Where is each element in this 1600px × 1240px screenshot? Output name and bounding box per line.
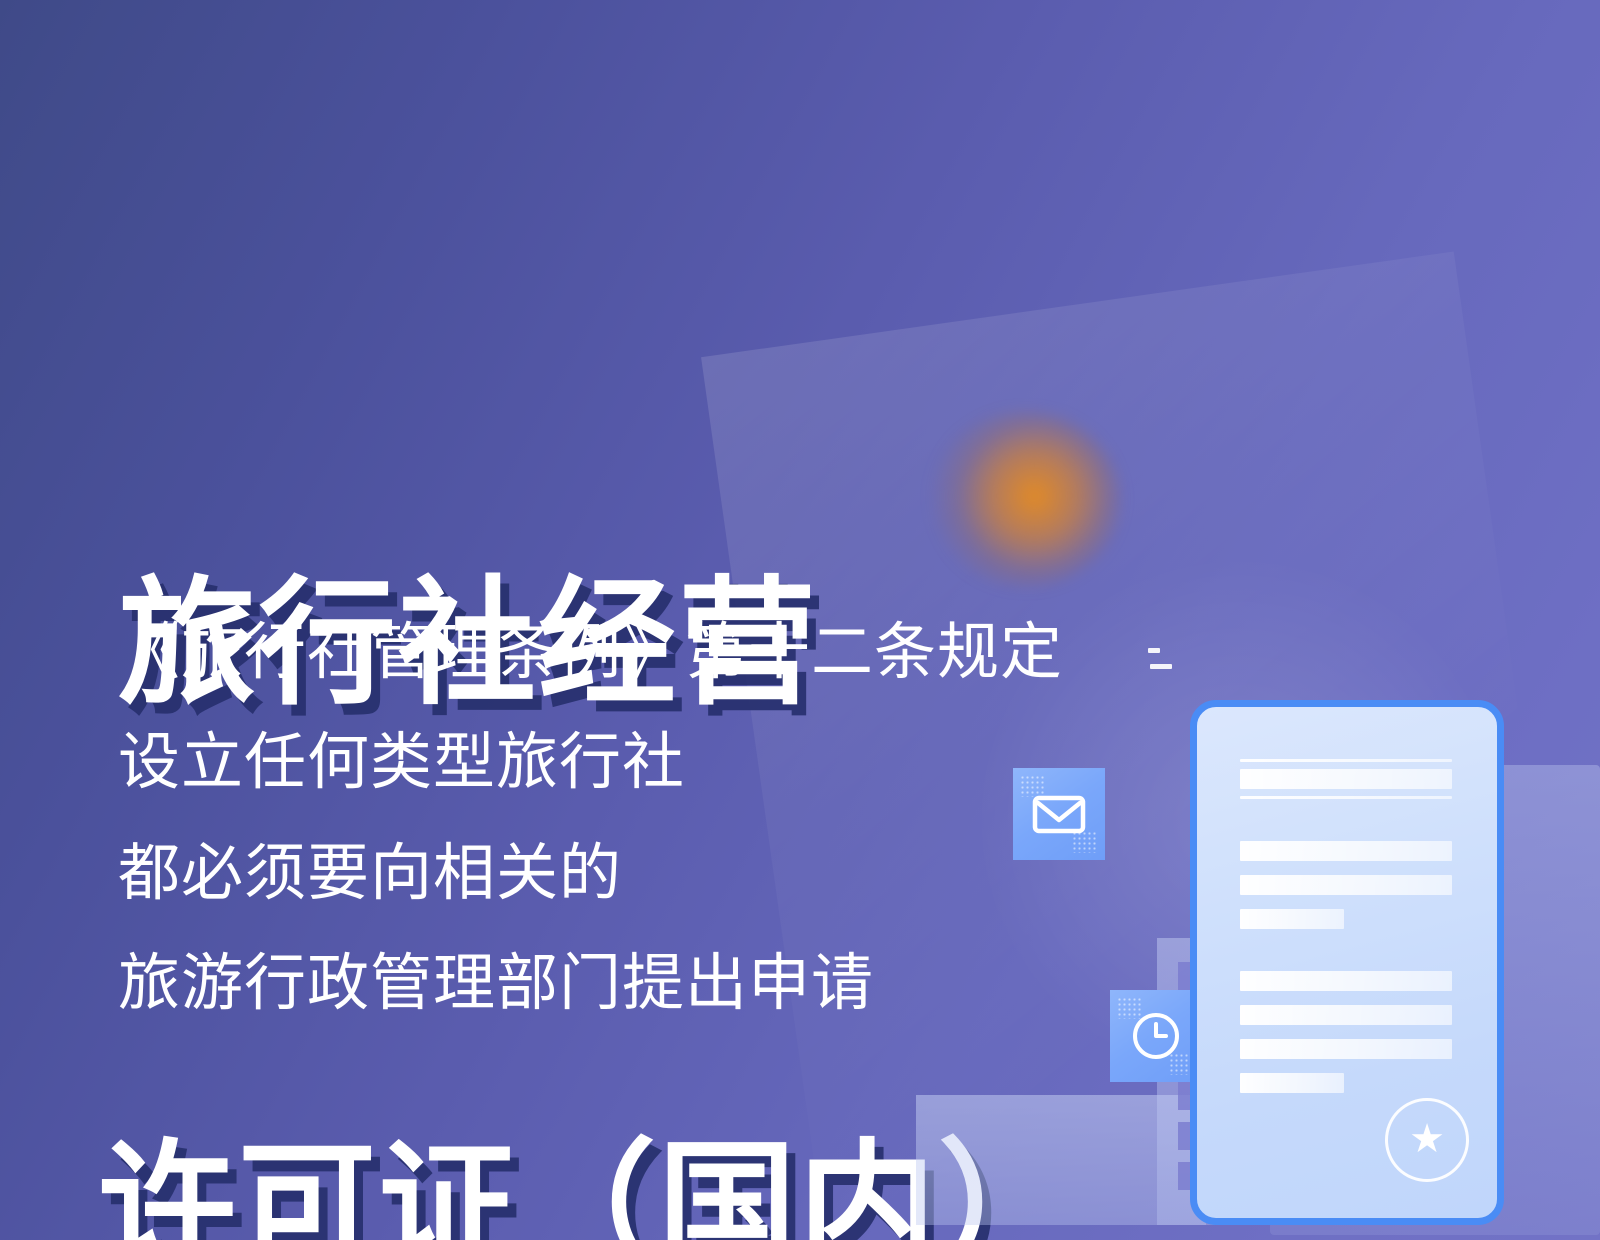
doc-line-gap bbox=[1240, 929, 1452, 971]
doc-line bbox=[1240, 841, 1452, 861]
envelope-icon bbox=[1013, 768, 1105, 860]
doc-line-gap bbox=[1240, 1025, 1452, 1039]
doc-line-gap bbox=[1240, 762, 1452, 769]
clock-icon bbox=[1110, 990, 1202, 1082]
document-text-lines bbox=[1240, 759, 1452, 1093]
doc-line bbox=[1240, 875, 1452, 895]
star-icon: ★ bbox=[1409, 1119, 1445, 1159]
illustration-group: ★ bbox=[880, 640, 1600, 1240]
doc-line bbox=[1240, 1039, 1452, 1059]
doc-line bbox=[1240, 769, 1452, 789]
doc-line-gap bbox=[1240, 895, 1452, 909]
poster-canvas: 旅行社经营 许可证（国内） 《旅行社管理条例》第十二条规定 设立任何类型旅行社 … bbox=[0, 0, 1600, 1240]
doc-line-gap bbox=[1240, 861, 1452, 875]
clock-tile bbox=[1110, 990, 1202, 1082]
doc-line-gap bbox=[1240, 1059, 1452, 1073]
document-card: ★ bbox=[1190, 700, 1504, 1225]
doc-line bbox=[1240, 1005, 1452, 1025]
doc-line bbox=[1240, 971, 1452, 991]
doc-line bbox=[1240, 1073, 1344, 1093]
doc-line-gap bbox=[1240, 991, 1452, 1005]
document-seal: ★ bbox=[1385, 1098, 1469, 1182]
doc-line-gap bbox=[1240, 789, 1452, 796]
doc-line-gap bbox=[1240, 799, 1452, 841]
accent-dash-icon-2 bbox=[1150, 664, 1172, 669]
envelope-tile bbox=[1013, 768, 1105, 860]
doc-line bbox=[1240, 909, 1344, 929]
accent-dash-icon-1 bbox=[1148, 648, 1160, 653]
